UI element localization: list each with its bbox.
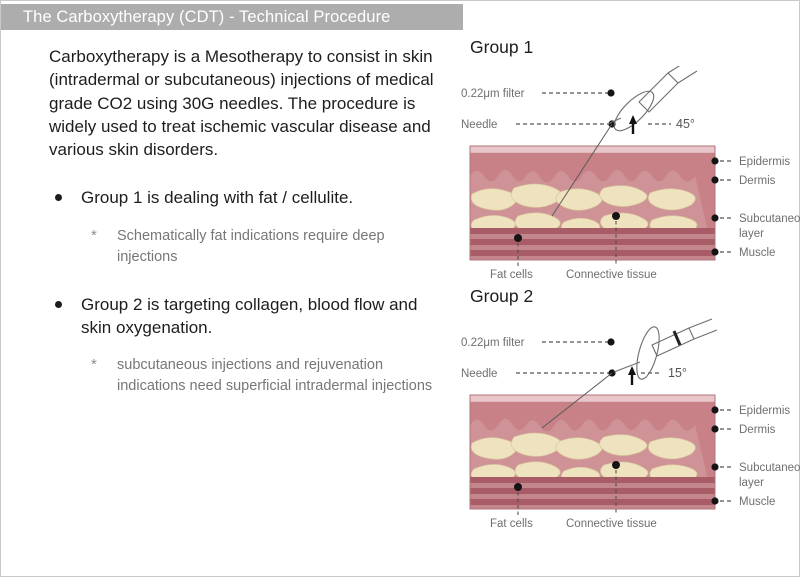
fat-cells-label: Fat cells (490, 269, 533, 281)
epidermis-label: Epidermis (739, 156, 790, 168)
dermis-dot-icon (711, 425, 718, 432)
fat-cells-label: Fat cells (490, 518, 533, 530)
bullet-text: Group 1 is dealing with fat / cellulite. (81, 188, 353, 207)
content-column: Carboxytherapy is a Mesotherapy to consi… (49, 45, 441, 397)
epidermis-dot-icon (711, 406, 718, 413)
connective-tissue-dot-icon (612, 461, 620, 469)
connective-tissue-dot-icon (612, 212, 620, 220)
fat-cells-dot-icon (514, 483, 522, 491)
list-item-sub: * Schematically fat indications require … (83, 226, 441, 268)
list-item: Group 1 is dealing with fat / cellulite. (49, 187, 441, 210)
angle-label: 45° (676, 117, 695, 131)
connective-tissue-label: Connective tissue (566, 269, 657, 281)
list-item: Group 2 is targeting collagen, blood flo… (49, 294, 441, 339)
page-title: The Carboxytherapy (CDT) - Technical Pro… (1, 8, 390, 27)
muscle-stripes (470, 477, 715, 509)
skin-layers (470, 395, 715, 509)
muscle-label: Muscle (739, 247, 775, 259)
right-callouts: Epidermis Dermis Subcutaneous layer Musc… (711, 405, 800, 508)
right-callouts: Epidermis Dermis Subcutaneous layer Musc… (711, 156, 800, 259)
angle-label: 15° (668, 366, 687, 380)
diagram-group-1: Group 1 0.22μm filter Needle 45° (456, 37, 800, 281)
filter-dot-icon (607, 89, 614, 96)
subcutaneous-label: Subcutaneous (739, 213, 800, 225)
bullet-list: Group 1 is dealing with fat / cellulite.… (49, 187, 441, 397)
subcutaneous-dot-icon (711, 214, 718, 221)
filter-label: 0.22μm filter (461, 88, 525, 100)
skin-cross-section-15deg: 0.22μm filter Needle 15° (456, 315, 800, 530)
asterisk-icon: * (91, 354, 97, 376)
injection-arrow-icon (629, 115, 637, 134)
muscle-dot-icon (711, 248, 718, 255)
skin-layers (470, 146, 715, 260)
sub-bullet-text: Schematically fat indications require de… (117, 228, 385, 265)
muscle-stripes (470, 228, 715, 260)
subcutaneous-label-2: layer (739, 477, 764, 489)
muscle-dot-icon (711, 497, 718, 504)
bullet-dot-icon (55, 194, 62, 201)
diagram-title: Group 2 (470, 286, 800, 307)
dermis-dot-icon (711, 176, 718, 183)
injection-arrow-icon (628, 366, 636, 385)
diagram-title: Group 1 (470, 37, 800, 58)
needle-label: Needle (461, 119, 497, 131)
bullet-dot-icon (55, 301, 62, 308)
bullet-text: Group 2 is targeting collagen, blood flo… (81, 295, 417, 337)
filter-label: 0.22μm filter (461, 337, 525, 349)
epidermis-label: Epidermis (739, 405, 790, 417)
sub-bullet-text: subcutaneous injections and rejuvenation… (117, 357, 432, 394)
asterisk-icon: * (91, 225, 97, 247)
fat-cells-dot-icon (514, 234, 522, 242)
muscle-label: Muscle (739, 496, 775, 508)
skin-cross-section-45deg: 0.22μm filter Needle 45° (456, 66, 800, 281)
dermis-label: Dermis (739, 424, 776, 436)
intro-paragraph: Carboxytherapy is a Mesotherapy to consi… (49, 45, 441, 161)
subcutaneous-dot-icon (711, 463, 718, 470)
subcutaneous-label: Subcutaneous (739, 462, 800, 474)
epidermis-dot-icon (711, 157, 718, 164)
slide-title-bar: The Carboxytherapy (CDT) - Technical Pro… (1, 4, 463, 30)
connective-tissue-label: Connective tissue (566, 518, 657, 530)
subcutaneous-label-2: layer (739, 228, 764, 240)
dermis-label: Dermis (739, 175, 776, 187)
list-item-sub: * subcutaneous injections and rejuvenati… (83, 355, 441, 397)
needle-label: Needle (461, 368, 497, 380)
filter-dot-icon (607, 338, 614, 345)
diagram-group-2: Group 2 0.22μm filter Needle 15° (456, 286, 800, 530)
